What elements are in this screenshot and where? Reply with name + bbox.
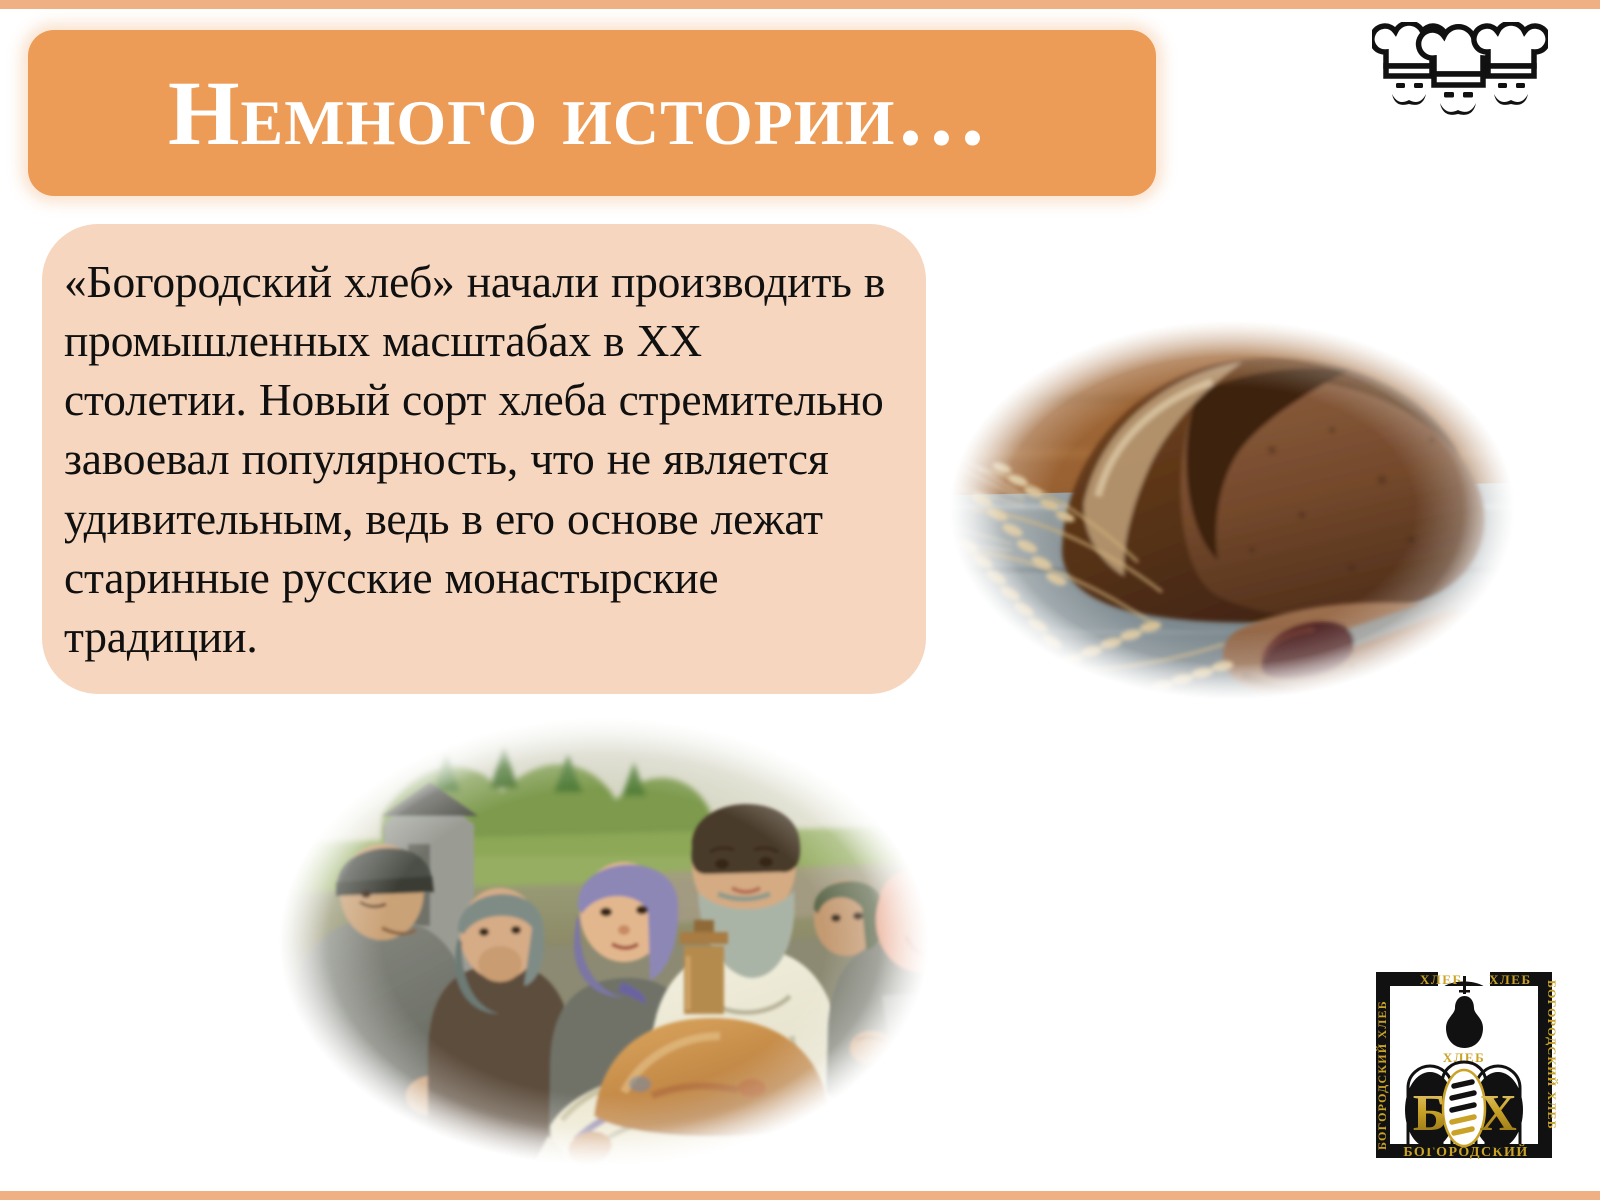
presentation-slide: Немного истории… xyxy=(0,0,1600,1200)
logo-top-right-word: ХЛЕБ xyxy=(1489,972,1532,987)
logo-top-left-word: ХЛЕБ xyxy=(1420,972,1463,987)
top-edge-bar xyxy=(0,0,1600,9)
body-text-card: «Богородский хлеб» начали производить в … xyxy=(42,224,926,694)
bogorodsky-hleb-logo: ХЛЕБ ХЛЕБ БОГОРОДСКИЙ БОГОРОДСКИЙ ХЛЕБ Б… xyxy=(1370,952,1558,1162)
logo-right-border-word: БОГОРОДСКИЙ ХЛЕБ xyxy=(1545,980,1558,1130)
logo-left-border-word: БОГОРОДСКИЙ ХЛЕБ xyxy=(1375,1000,1389,1150)
bottom-edge-bar xyxy=(0,1191,1600,1200)
russian-peasants-bread-and-salt-painting xyxy=(232,696,976,1188)
body-paragraph: «Богородский хлеб» начали производить в … xyxy=(64,252,892,666)
sliced-rye-bread-photo xyxy=(912,300,1552,720)
page-title: Немного истории… xyxy=(168,67,988,159)
logo-monogram-right: Х xyxy=(1479,1085,1517,1142)
chef-hats-icon xyxy=(1372,22,1548,118)
logo-monogram-left: Б xyxy=(1413,1085,1447,1142)
title-banner: Немного истории… xyxy=(28,30,1156,196)
